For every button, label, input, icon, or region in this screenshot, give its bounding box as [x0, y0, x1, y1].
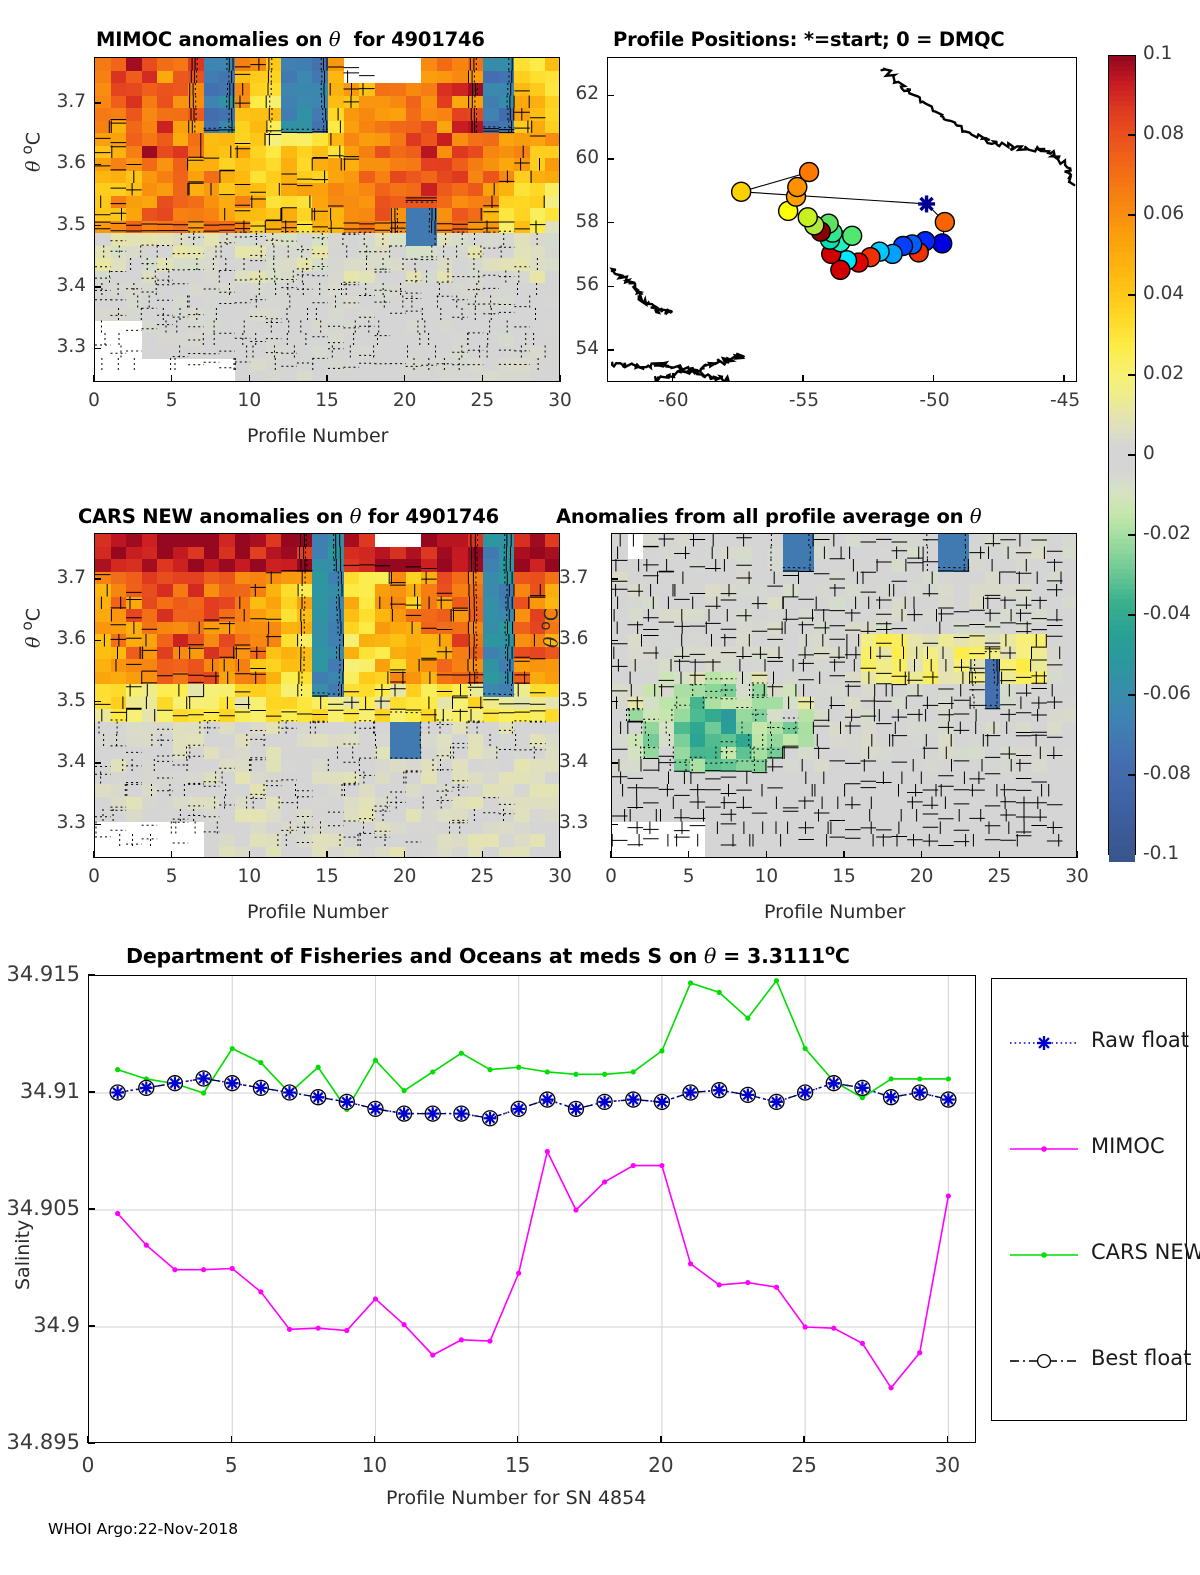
x-tickmark: [482, 375, 483, 382]
contour-line: [95, 534, 546, 684]
x-tickmark: [559, 375, 560, 382]
y-tickmark: [94, 348, 101, 349]
legend-label-raw-float[interactable]: Raw float: [1091, 1028, 1189, 1052]
y-tickmark: [94, 578, 101, 579]
data-point: [917, 1350, 922, 1355]
panel-title-cars: CARS NEW anomalies on θ for 4901746: [78, 505, 499, 528]
plot-allavg-anomalies: [611, 533, 1077, 858]
y-tick-label: 3.3: [36, 812, 86, 833]
y-tickmark: [607, 349, 614, 350]
contour-line: [95, 58, 546, 233]
legend-marker: [1041, 1252, 1047, 1258]
series-line-raw-float: [118, 1078, 949, 1118]
data-point-raw-float: [885, 1091, 898, 1104]
data-point-raw-float: [541, 1093, 554, 1106]
colorbar-tickmark: [1128, 134, 1136, 135]
contour-overlay-allavg: [612, 534, 1077, 858]
y-tickmark: [611, 762, 618, 763]
data-point-raw-float: [570, 1103, 583, 1116]
contour-line: [95, 534, 546, 847]
data-point: [401, 1088, 406, 1093]
data-point-raw-float: [713, 1084, 726, 1097]
legend-label-best-float[interactable]: Best float: [1091, 1346, 1191, 1370]
coastline: [612, 269, 672, 314]
y-tickmark-salinity: [88, 1442, 95, 1443]
x-tickmark: [326, 375, 327, 382]
profile-position-marker[interactable]: [843, 226, 862, 245]
data-point: [659, 1048, 664, 1053]
x-tickmark: [93, 375, 94, 382]
data-point: [631, 1069, 636, 1074]
colorbar-tickmark: [1128, 214, 1136, 215]
y-tickmark-salinity: [88, 1208, 95, 1209]
x-tick-label-salinity: 10: [356, 1453, 392, 1477]
panel-title-allavg: Anomalies from all profile average on θ: [556, 505, 981, 528]
x-tick-label: 30: [1063, 866, 1091, 887]
colorbar-tick-label: 0.02: [1143, 363, 1184, 384]
x-axis-label-mimoc: Profile Number: [247, 425, 388, 447]
x-tickmark-salinity: [517, 1436, 518, 1443]
data-point: [774, 978, 779, 983]
x-tick-label-salinity: 5: [213, 1453, 249, 1477]
data-point: [659, 1163, 664, 1168]
panel-title-positions: Profile Positions: *=start; 0 = DMQC: [613, 28, 1005, 51]
colorbar-tick-label: 0: [1143, 443, 1155, 464]
x-tickmark: [404, 375, 405, 382]
x-tickmark-salinity: [660, 1436, 661, 1443]
data-point: [803, 1324, 808, 1329]
x-tick-label: 25: [985, 866, 1013, 887]
data-point-raw-float: [656, 1095, 669, 1108]
data-point-raw-float: [312, 1091, 325, 1104]
x-tick-label-salinity: 15: [500, 1453, 536, 1477]
x-tick-label: 5: [158, 866, 186, 887]
x-tickmark: [249, 375, 250, 382]
y-tickmark: [94, 286, 101, 287]
y-tick-label: 3.6: [36, 628, 86, 649]
legend-marker: [1037, 1036, 1051, 1050]
data-point-raw-float: [770, 1095, 783, 1108]
data-point: [258, 1060, 263, 1065]
x-tickmark: [672, 375, 673, 382]
data-point-raw-float: [169, 1077, 182, 1090]
y-tickmark-salinity: [88, 974, 95, 975]
x-tick-label: -45: [1050, 390, 1078, 411]
map-canvas: [608, 58, 1077, 382]
y-tickmark: [611, 578, 618, 579]
y-tickmark: [607, 158, 614, 159]
x-tick-label: 5: [675, 866, 703, 887]
panel-title-mimoc: MIMOC anomalies on θ for 4901746: [96, 28, 485, 51]
data-point: [316, 1326, 321, 1331]
data-point: [545, 1069, 550, 1074]
data-point: [516, 1271, 521, 1276]
data-point: [573, 1207, 578, 1212]
data-point: [717, 990, 722, 995]
colorbar-tickmark: [1128, 374, 1136, 375]
y-tickmark: [94, 225, 101, 226]
data-point: [946, 1076, 951, 1081]
x-tickmark: [171, 851, 172, 858]
colorbar-tickmark: [1128, 454, 1136, 455]
data-point: [115, 1211, 120, 1216]
start-marker-asterisk[interactable]: [918, 195, 935, 212]
y-tick-label: 3.7: [36, 567, 86, 588]
x-tick-label: 10: [235, 866, 263, 887]
data-point-raw-float: [512, 1103, 525, 1116]
data-point-raw-float: [455, 1107, 468, 1120]
x-axis-label-cars: Profile Number: [247, 901, 388, 923]
data-point-raw-float: [484, 1112, 497, 1125]
plot-mimoc-anomalies: [94, 57, 560, 382]
plot-cars-anomalies: [94, 533, 560, 858]
x-tickmark: [933, 375, 934, 382]
colorbar-segment: [1109, 856, 1135, 862]
data-point: [316, 1065, 321, 1070]
colorbar-tick-label: 0.06: [1143, 203, 1184, 224]
x-tick-label: -50: [919, 390, 947, 411]
data-point-raw-float: [197, 1072, 210, 1085]
contour-line: [95, 58, 545, 371]
data-point: [860, 1341, 865, 1346]
colorbar-tick-label: -0.02: [1143, 523, 1191, 544]
data-point-raw-float: [913, 1086, 926, 1099]
x-tick-label: 10: [752, 866, 780, 887]
y-tickmark: [607, 286, 614, 287]
colorbar-tick-label: -0.06: [1143, 683, 1191, 704]
contour-line: [95, 58, 546, 233]
data-point-raw-float: [369, 1103, 382, 1116]
colorbar-tick-label: -0.1: [1143, 843, 1179, 864]
data-point-raw-float: [942, 1093, 955, 1106]
y-tick-label: 54: [549, 338, 599, 359]
data-point-raw-float: [799, 1086, 812, 1099]
x-axis-label-allavg: Profile Number: [764, 901, 905, 923]
salinity-series-canvas: [89, 976, 976, 1443]
x-tickmark: [999, 851, 1000, 858]
x-tickmark: [404, 851, 405, 858]
data-point-raw-float: [741, 1088, 754, 1101]
x-tickmark-salinity: [947, 1436, 948, 1443]
y-tickmark: [94, 762, 101, 763]
y-tick-label: 3.4: [36, 751, 86, 772]
y-tick-label: 3.7: [559, 567, 588, 588]
plot-salinity-timeseries: [88, 975, 976, 1443]
data-point-raw-float: [111, 1086, 124, 1099]
data-point: [631, 1163, 636, 1168]
y-tickmark: [611, 701, 618, 702]
x-tickmark-salinity: [374, 1436, 375, 1443]
x-tick-label-salinity: 20: [643, 1453, 679, 1477]
x-axis-label-salinity: Profile Number for SN 4854: [386, 1487, 646, 1509]
data-point: [487, 1338, 492, 1343]
data-point-raw-float: [827, 1077, 840, 1090]
x-tickmark: [171, 375, 172, 382]
contour-overlay-mimoc: [95, 58, 560, 382]
y-tickmark: [611, 640, 618, 641]
data-point: [946, 1193, 951, 1198]
x-tick-label: 15: [313, 866, 341, 887]
contour-line: [854, 629, 1047, 684]
data-point-raw-float: [226, 1077, 239, 1090]
data-point-raw-float: [627, 1093, 640, 1106]
data-point: [545, 1149, 550, 1154]
profile-position-marker[interactable]: [933, 234, 952, 253]
colorbar-tick-label: 0.08: [1143, 123, 1184, 144]
y-tick-label: 3.6: [36, 152, 86, 173]
data-point: [230, 1266, 235, 1271]
legend-label-cars-new[interactable]: CARS NEW: [1091, 1240, 1200, 1264]
plot-profile-positions: [607, 57, 1077, 382]
x-tickmark-salinity: [231, 1436, 232, 1443]
x-tickmark: [1063, 375, 1064, 382]
x-tick-label: 20: [391, 390, 419, 411]
y-tick-label: 3.3: [559, 812, 588, 833]
x-tickmark: [559, 851, 560, 858]
y-tickmark: [94, 164, 101, 165]
contour-overlay-cars: [95, 534, 560, 858]
data-point-raw-float: [340, 1095, 353, 1108]
y-tick-label-salinity: 34.91: [0, 1079, 80, 1103]
series-line-cars-new: [118, 981, 949, 1110]
y-tick-label: 56: [549, 274, 599, 295]
colorbar-tickmark: [1128, 294, 1136, 295]
data-point: [230, 1046, 235, 1051]
x-tickmark: [688, 851, 689, 858]
x-tickmark: [610, 851, 611, 858]
data-point: [373, 1296, 378, 1301]
x-tick-label: 0: [80, 866, 108, 887]
y-axis-label-salinity: Salinity: [12, 1220, 34, 1290]
x-tick-label: 25: [468, 866, 496, 887]
x-tickmark: [766, 851, 767, 858]
data-point: [602, 1072, 607, 1077]
figure-footer: WHOI Argo:22-Nov-2018: [48, 1520, 238, 1538]
x-tick-label: 25: [468, 390, 496, 411]
data-point: [201, 1267, 206, 1272]
x-tickmark: [482, 851, 483, 858]
data-point: [573, 1072, 578, 1077]
contour-line: [612, 534, 1063, 847]
y-tickmark-salinity: [88, 1091, 95, 1092]
colorbar-tickmark: [1128, 774, 1136, 775]
legend-marker: [1038, 1355, 1051, 1368]
x-tickmark-salinity: [803, 1436, 804, 1443]
y-tickmark: [94, 640, 101, 641]
y-tick-label-salinity: 34.915: [0, 962, 80, 986]
x-tick-label: 0: [80, 390, 108, 411]
y-tickmark: [607, 95, 614, 96]
data-point-raw-float: [254, 1081, 267, 1094]
x-tick-label: 30: [546, 866, 574, 887]
data-point-raw-float: [283, 1086, 296, 1099]
data-point: [401, 1322, 406, 1327]
data-point: [888, 1076, 893, 1081]
colorbar-tick-label: 0.1: [1143, 43, 1172, 64]
data-point: [888, 1385, 893, 1390]
data-point: [831, 1326, 836, 1331]
contour-line: [95, 534, 546, 722]
x-tick-label: -55: [789, 390, 817, 411]
data-point: [115, 1067, 120, 1072]
x-tickmark: [93, 851, 94, 858]
colorbar-tickmark: [1128, 534, 1136, 535]
data-point: [144, 1243, 149, 1248]
colorbar-tickmark: [1128, 614, 1136, 615]
data-point: [688, 980, 693, 985]
data-point: [917, 1076, 922, 1081]
x-tickmark: [249, 851, 250, 858]
series-line-mimoc: [118, 1152, 949, 1388]
x-tickmark: [326, 851, 327, 858]
y-tick-label: 58: [549, 211, 599, 232]
data-point: [745, 1016, 750, 1021]
data-point: [258, 1289, 263, 1294]
y-tickmark-salinity: [88, 1325, 95, 1326]
x-tick-label-salinity: 0: [70, 1453, 106, 1477]
y-tickmark: [94, 701, 101, 702]
data-point-raw-float: [140, 1081, 153, 1094]
y-tick-label: 3.5: [36, 690, 86, 711]
data-point: [344, 1328, 349, 1333]
data-point-raw-float: [398, 1107, 411, 1120]
y-tick-label: 62: [549, 83, 599, 104]
y-tick-label: 3.3: [36, 336, 86, 357]
x-tick-label: 30: [546, 390, 574, 411]
y-tick-label: 3.6: [559, 628, 588, 649]
y-tick-label-salinity: 34.9: [0, 1313, 80, 1337]
y-tickmark: [611, 824, 618, 825]
x-tick-label-salinity: 25: [786, 1453, 822, 1477]
colorbar-tick-label: 0.04: [1143, 283, 1184, 304]
x-tick-label: 20: [908, 866, 936, 887]
y-tick-label: 3.4: [559, 751, 588, 772]
profile-position-marker[interactable]: [935, 213, 954, 232]
profile-position-marker[interactable]: [732, 182, 751, 201]
x-tick-label: 5: [158, 390, 186, 411]
y-tick-label-salinity: 34.905: [0, 1196, 80, 1220]
y-tick-label-salinity: 34.895: [0, 1430, 80, 1454]
series-line-best-float: [118, 1078, 949, 1118]
x-tickmark: [802, 375, 803, 382]
x-tick-label-salinity: 30: [929, 1453, 965, 1477]
data-point: [201, 1090, 206, 1095]
x-tickmark: [843, 851, 844, 858]
y-tick-label: 3.5: [36, 214, 86, 235]
data-point-raw-float: [426, 1107, 439, 1120]
data-point: [430, 1352, 435, 1357]
x-tick-label: 0: [597, 866, 625, 887]
x-tick-label: -60: [658, 390, 686, 411]
x-tick-label: 15: [830, 866, 858, 887]
data-point-raw-float: [598, 1095, 611, 1108]
colorbar-tick-label: -0.08: [1143, 763, 1191, 784]
colorbar-tick-label: -0.04: [1143, 603, 1191, 624]
y-tickmark: [607, 222, 614, 223]
data-point: [487, 1067, 492, 1072]
data-point: [459, 1051, 464, 1056]
data-point: [688, 1261, 693, 1266]
data-point-raw-float: [856, 1081, 869, 1094]
x-tickmark: [1076, 851, 1077, 858]
data-point: [172, 1267, 177, 1272]
profile-position-marker[interactable]: [800, 163, 819, 182]
profile-position-marker[interactable]: [798, 208, 817, 227]
data-point: [287, 1327, 292, 1332]
data-point: [459, 1337, 464, 1342]
legend-label-mimoc[interactable]: MIMOC: [1091, 1134, 1165, 1158]
data-point: [602, 1179, 607, 1184]
legend-marker: [1041, 1146, 1047, 1152]
data-point: [373, 1058, 378, 1063]
y-tickmark: [94, 824, 101, 825]
x-tick-label: 20: [391, 866, 419, 887]
data-point: [774, 1285, 779, 1290]
panel-title-salinity: Department of Fisheries and Oceans at me…: [126, 942, 850, 968]
y-tickmark: [94, 102, 101, 103]
x-tick-label: 15: [313, 390, 341, 411]
data-point: [717, 1282, 722, 1287]
colorbar-tickmark: [1128, 694, 1136, 695]
data-point: [516, 1065, 521, 1070]
data-point: [430, 1069, 435, 1074]
y-tick-label: 3.4: [36, 275, 86, 296]
y-tick-label: 3.7: [36, 91, 86, 112]
y-tick-label: 60: [549, 147, 599, 168]
x-tick-label: 10: [235, 390, 263, 411]
coastline: [882, 69, 1075, 185]
data-point-raw-float: [684, 1086, 697, 1099]
x-tickmark: [921, 851, 922, 858]
data-point: [803, 1046, 808, 1051]
data-point: [745, 1280, 750, 1285]
theta-symbol: θ: [329, 28, 341, 51]
y-tick-label: 3.5: [559, 690, 588, 711]
